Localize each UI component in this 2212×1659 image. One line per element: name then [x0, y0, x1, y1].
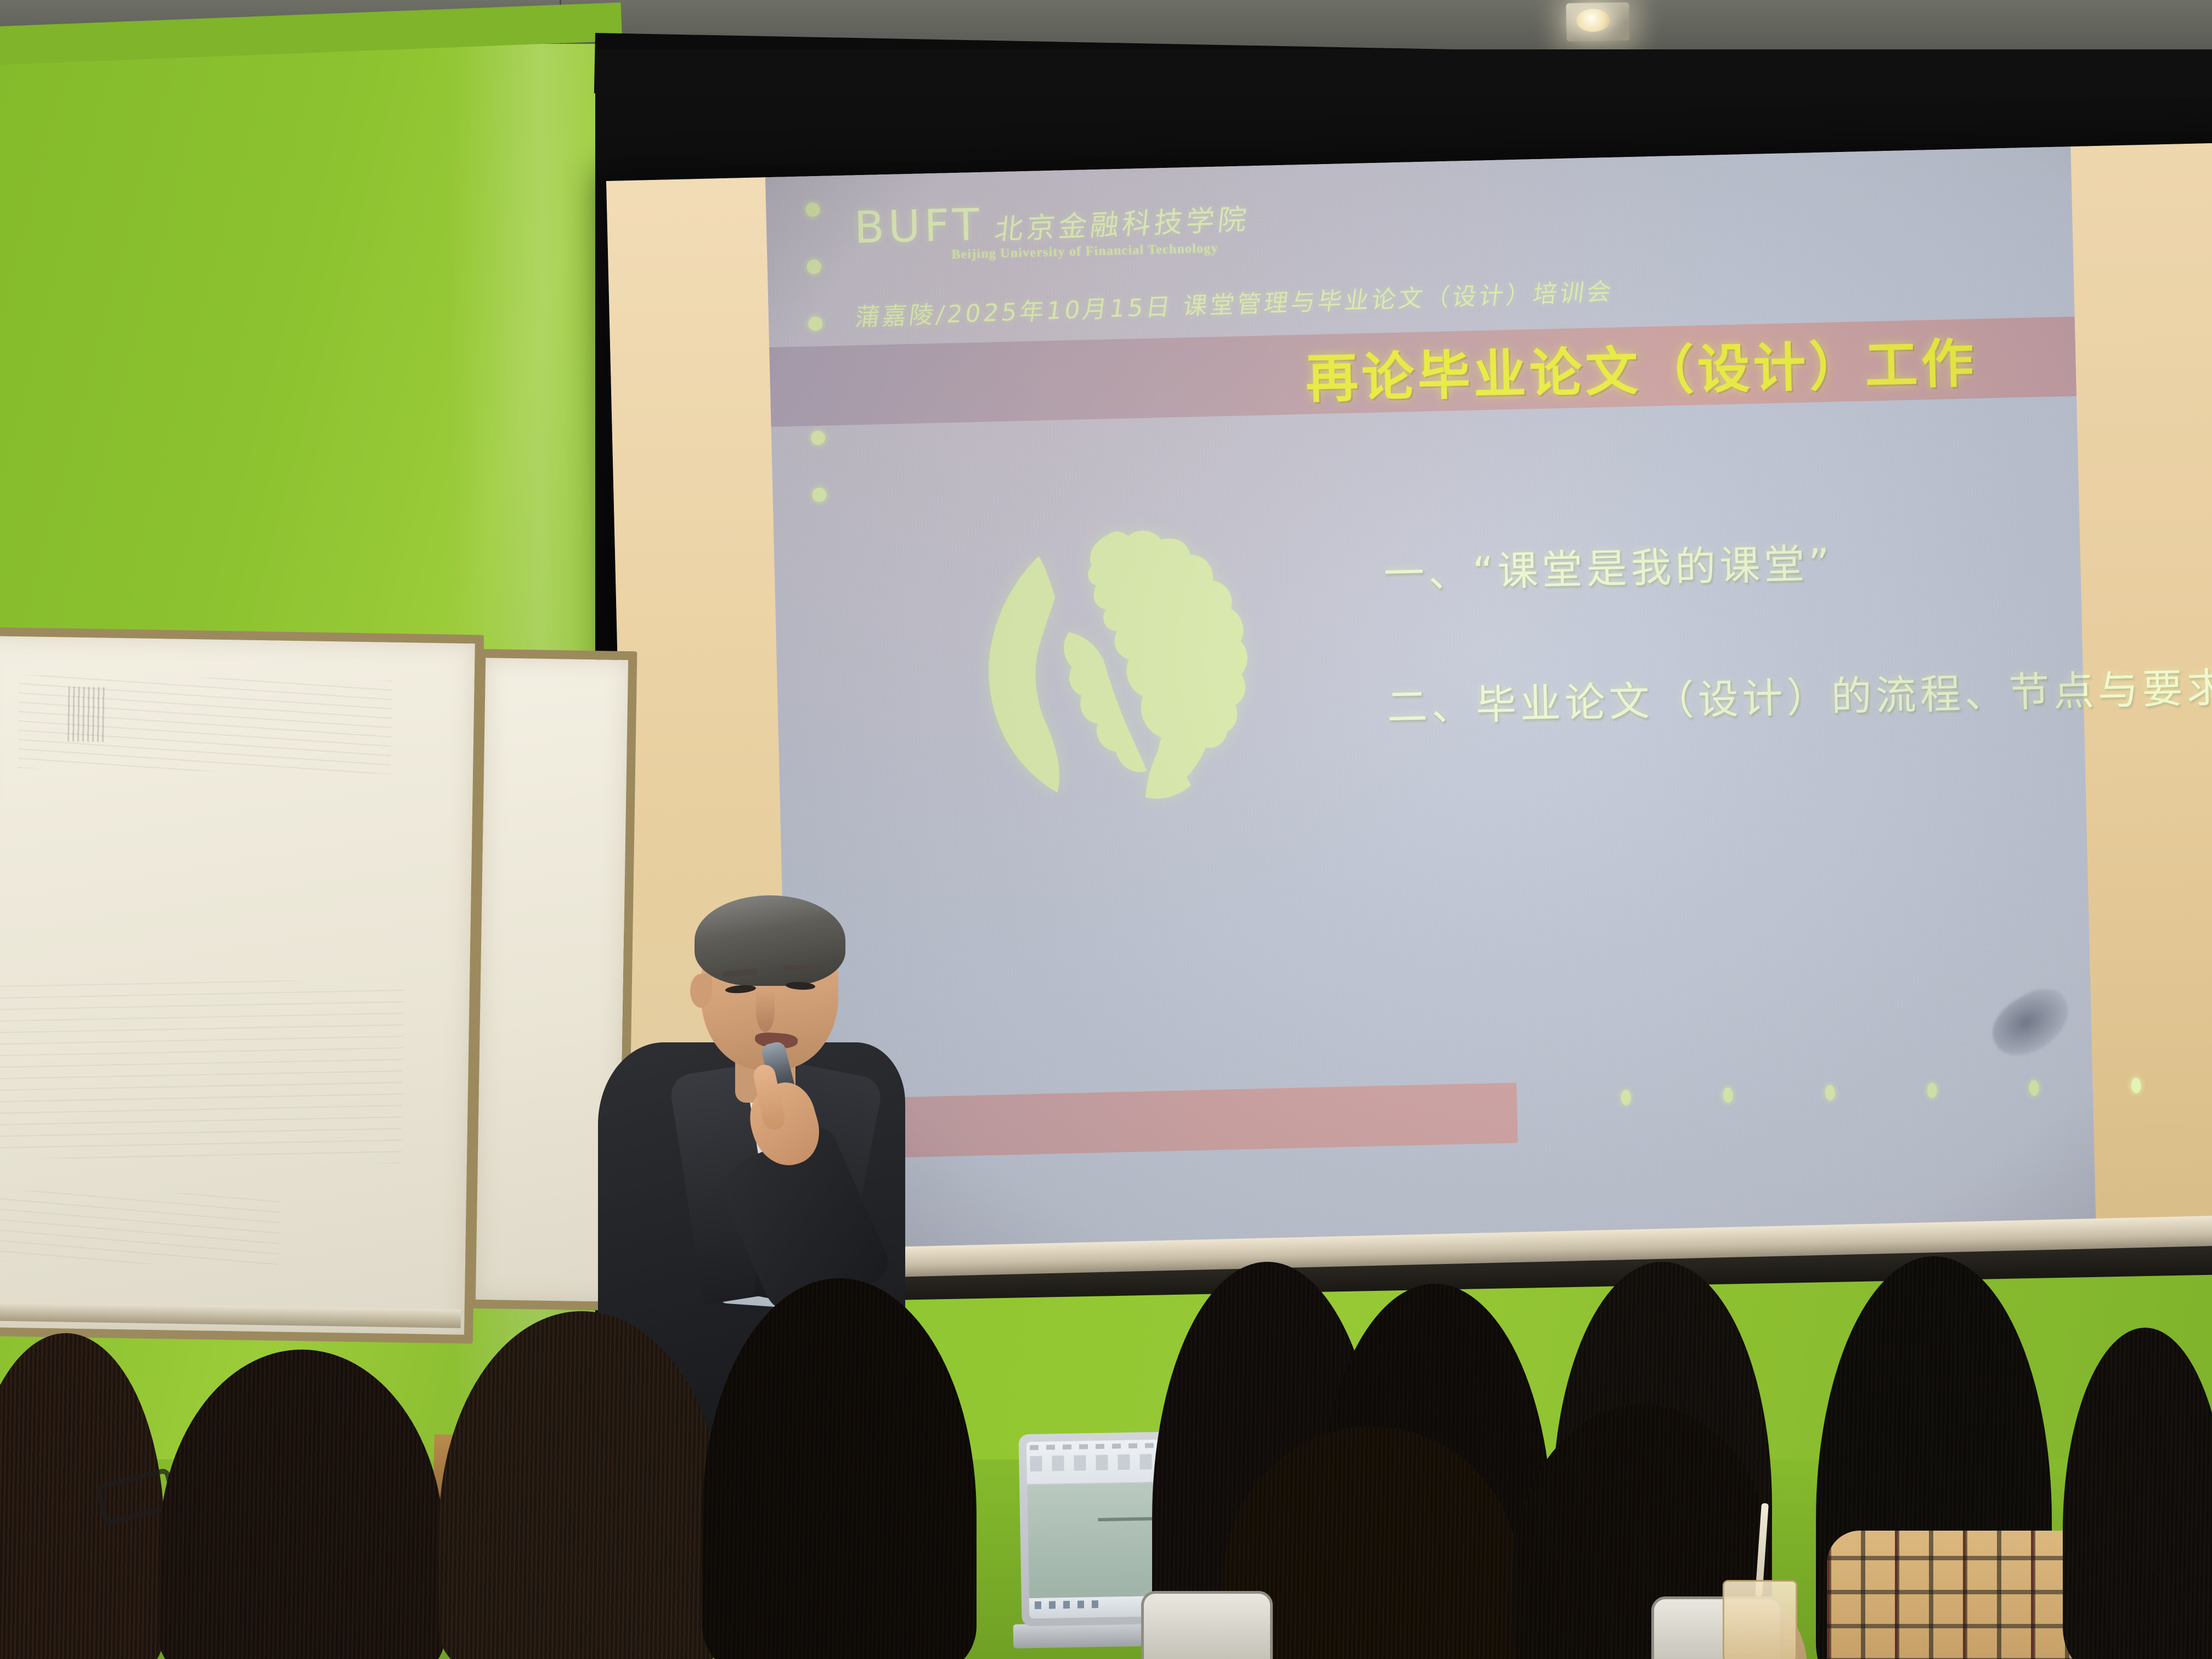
presenter-nose — [756, 990, 775, 1032]
whiteboard-ghost-writing — [0, 1190, 280, 1266]
audience-member — [702, 1278, 977, 1659]
decor-dot — [811, 431, 826, 445]
decor-dot — [812, 488, 827, 503]
audience-member — [2063, 1328, 2212, 1659]
decor-dot — [1927, 1082, 1937, 1098]
globe-icon — [943, 500, 1280, 837]
decor-dot — [1621, 1090, 1632, 1105]
decor-dot — [1825, 1085, 1835, 1101]
ceiling-spotlight-icon — [1566, 2, 1629, 42]
presenter-hair — [695, 895, 845, 986]
slide-title: 再论毕业论文（设计）工作 — [1305, 320, 1978, 413]
slide-bullet-list: 一、“课堂是我的课堂” 二、毕业论文（设计）的流程、节点与要求 — [1383, 522, 2212, 733]
decor-dot — [2131, 1078, 2141, 1093]
whiteboard-ghost-writing — [67, 687, 107, 742]
audience-member — [159, 1350, 444, 1659]
chair — [1141, 1591, 1273, 1659]
audience-member — [439, 1311, 724, 1659]
audience-hair — [159, 1350, 444, 1659]
decor-dot — [2029, 1080, 2039, 1096]
presenter-ear — [690, 974, 712, 1008]
brand-acronym: BUFT — [854, 204, 984, 249]
decor-dot — [808, 317, 823, 331]
decor-dot — [806, 259, 821, 274]
whiteboard-left — [0, 627, 484, 1344]
brand-name-chinese: 北京金融科技学院 — [993, 196, 1252, 247]
decor-dot — [805, 202, 820, 217]
audience-hair — [439, 1311, 724, 1659]
whiteboard-ghost-writing — [0, 976, 404, 1164]
drink-cup — [1723, 1580, 1797, 1659]
decor-dot — [1723, 1087, 1733, 1103]
photo-scene: BUFT 北京金融科技学院 Beijing University of Fina… — [0, 0, 2212, 1659]
audience-hair — [2063, 1328, 2212, 1659]
audience-hair — [702, 1278, 977, 1659]
brand-lockup: BUFT 北京金融科技学院 Beijing University of Fina… — [854, 198, 1250, 264]
presentation-slide: BUFT 北京金融科技学院 Beijing University of Fina… — [765, 146, 2096, 1269]
